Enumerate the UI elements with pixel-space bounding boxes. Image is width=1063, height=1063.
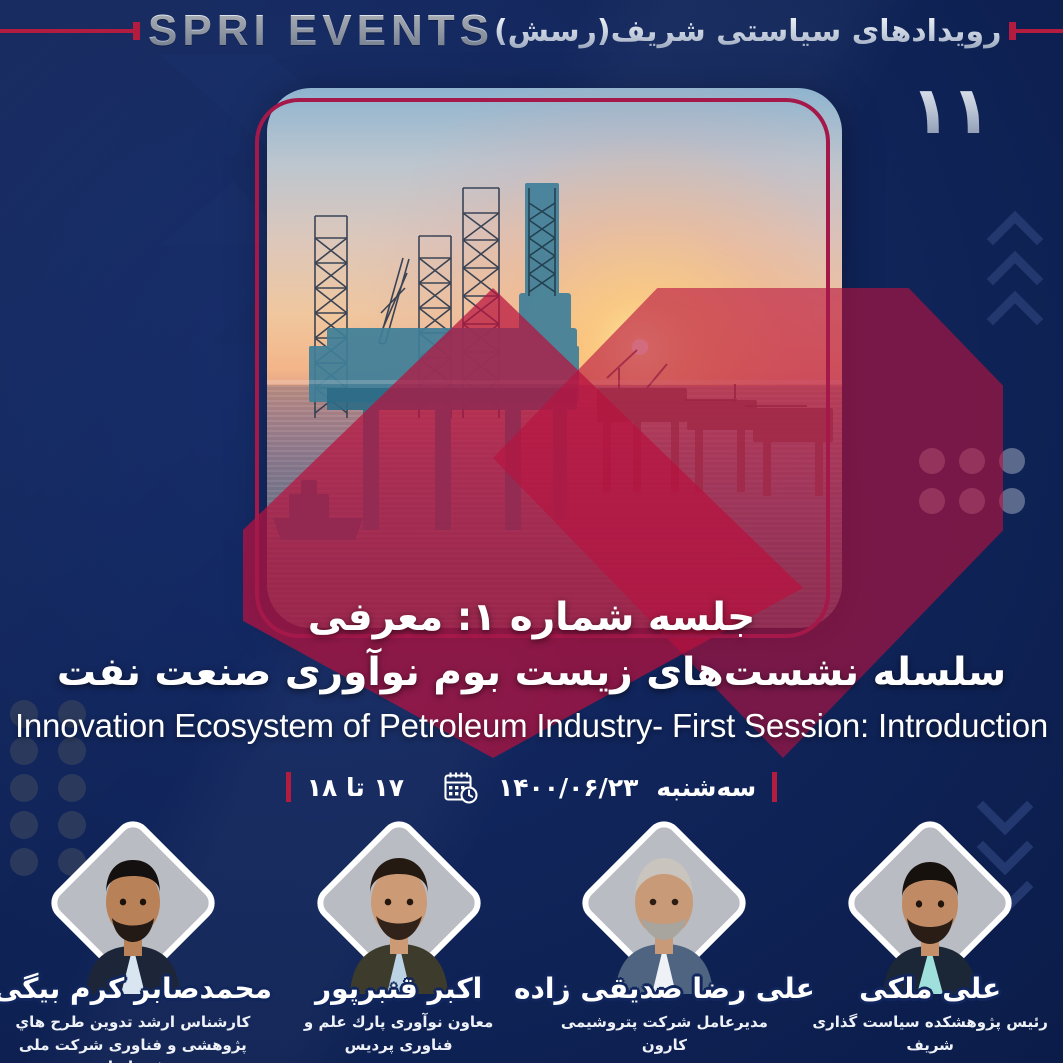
speaker-card[interactable]: علی ملکی رئیس پژوهشکده سیاست گذاری شریف <box>805 826 1055 1056</box>
speaker-name: علی رضا صدیقی زاده <box>514 972 815 1005</box>
hero-image-frame <box>255 98 830 638</box>
speaker-card[interactable]: علی رضا صدیقی زاده مدیرعامل شرکت پتروشیم… <box>539 826 789 1056</box>
speaker-card[interactable]: اکبر قنبرپور معاون نوآوری پارك علم و فنا… <box>274 826 524 1056</box>
event-poster: SPRI EVENTS رویدادهای سیاستی شریف(رسش) ۱… <box>0 0 1063 1063</box>
brand-title-fa: رویدادهای سیاستی شریف(رسش) <box>494 14 1002 49</box>
series-title-fa: سلسله نشست‌های زیست بوم نوآوری صنعت نفت <box>0 647 1063 698</box>
schedule-strip: سه‌شنبه ۱۴۰۰/۰۶/۲۳ ۱۷ تا ۱ <box>0 768 1063 806</box>
header-rule-cap-right <box>1009 22 1016 40</box>
dot <box>959 448 985 474</box>
dot <box>959 488 985 514</box>
avatar <box>869 832 991 994</box>
speaker-name: علی ملکی <box>859 972 1001 1005</box>
speaker-photo <box>845 826 1015 996</box>
dot <box>999 448 1025 474</box>
schedule-weekday: سه‌شنبه <box>656 773 756 802</box>
header-rule-right <box>1009 29 1063 33</box>
brand-title-en: SPRI EVENTS <box>148 6 494 56</box>
session-title-fa: جلسه شماره ۱: معرفی <box>0 592 1063 643</box>
speaker-role: معاون نوآوری پارك علم و فناوری پردیس <box>276 1011 522 1056</box>
dot <box>999 488 1025 514</box>
schedule-tick-right <box>772 772 777 802</box>
speaker-name: اکبر قنبرپور <box>315 972 482 1005</box>
speaker-role: رئیس پژوهشکده سیاست گذاری شریف <box>807 1011 1053 1056</box>
avatar <box>603 832 725 994</box>
speaker-photo <box>579 826 749 996</box>
hero-photo <box>267 88 842 628</box>
episode-number: ۱۱ <box>910 78 991 144</box>
dot <box>919 448 945 474</box>
avatar <box>72 832 194 994</box>
avatar <box>338 832 460 994</box>
speaker-name: محمدصابر کرم بیگی <box>0 972 272 1005</box>
schedule-tick-left <box>286 772 291 802</box>
dot-grid-right <box>919 448 1039 528</box>
header-rule-left <box>0 29 140 33</box>
title-block: جلسه شماره ۱: معرفی سلسله نشست‌های زیست … <box>0 592 1063 745</box>
series-title-en: Innovation Ecosystem of Petroleum Indust… <box>0 707 1063 745</box>
speaker-role: کارشناس ارشد تدوین طرح هاي پژوهشی و فناو… <box>10 1011 256 1063</box>
schedule-time: ۱۷ تا ۱۸ <box>307 773 404 802</box>
speaker-card[interactable]: محمدصابر کرم بیگی کارشناس ارشد تدوین طرح… <box>8 826 258 1063</box>
calendar-clock-icon <box>442 768 480 806</box>
speaker-photo <box>314 826 484 996</box>
speaker-photo <box>48 826 218 996</box>
dot <box>919 488 945 514</box>
schedule-date: ۱۴۰۰/۰۶/۲۳ <box>498 773 638 802</box>
poster-header: SPRI EVENTS رویدادهای سیاستی شریف(رسش) <box>0 0 1063 62</box>
speaker-role: مدیرعامل شرکت پتروشیمی کارون <box>541 1011 787 1056</box>
header-rule-cap-left <box>133 22 140 40</box>
speakers-row: علی ملکی رئیس پژوهشکده سیاست گذاری شریف <box>0 826 1063 1063</box>
oil-rig-silhouette <box>267 88 842 628</box>
chevron-up-stack-icon <box>979 205 1051 331</box>
